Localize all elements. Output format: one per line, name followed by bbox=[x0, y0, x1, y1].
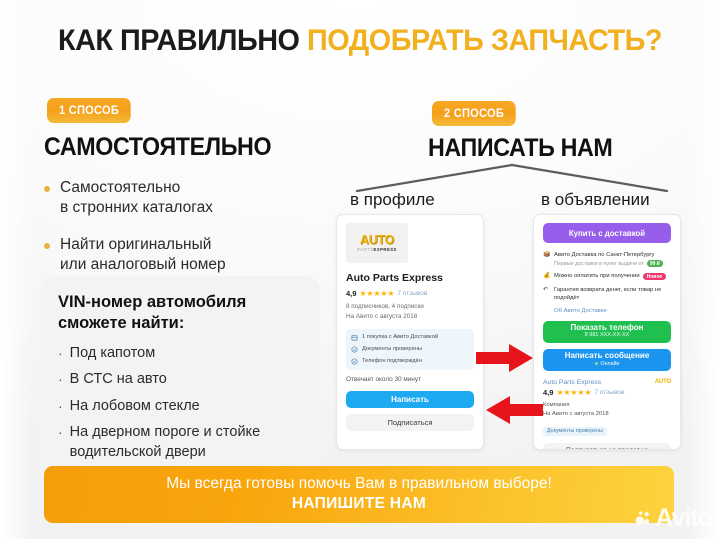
list-item: · На лобовом стекле bbox=[58, 397, 302, 416]
profile-since: На Авито с августа 2018 bbox=[346, 312, 474, 322]
seller-type: Компания bbox=[543, 401, 671, 410]
list-item: · Под капотом bbox=[58, 344, 302, 363]
trust-badge-text: Телефон подтверждён bbox=[362, 358, 422, 364]
reviews-link[interactable]: 7 отзывов bbox=[397, 290, 427, 297]
method-2-heading: НАПИСАТЬ НАМ bbox=[428, 134, 612, 163]
trust-badge-text: Документы проверены bbox=[362, 346, 422, 352]
list-item: Самостоятельно в стронних каталогах bbox=[44, 178, 296, 219]
profile-followers: 8 подписчиков, 4 подписки bbox=[346, 302, 474, 312]
stars-icon: ★★★★★ bbox=[556, 388, 591, 397]
return-icon: ↶ bbox=[543, 286, 550, 294]
page-title-black: КАК ПРАВИЛЬНО bbox=[58, 24, 299, 57]
bullet-line-1: Найти оригинальный bbox=[60, 235, 226, 255]
method-2-badge: 2 СПОСОБ bbox=[432, 101, 516, 126]
list-item: 💰 Можно оплатить при получении Новое bbox=[543, 272, 671, 280]
delivery-item-text: Можно оплатить при получении bbox=[554, 272, 640, 280]
vin-title-line-1: VIN-номер автомобиля bbox=[58, 292, 302, 313]
subscribe-seller-button[interactable]: Подписаться на продавца bbox=[543, 443, 671, 450]
rating-value: 4,9 bbox=[346, 289, 356, 298]
bullet-dash-icon: · bbox=[58, 397, 63, 416]
bullet-line-2: или аналоговый номер bbox=[60, 255, 226, 275]
avito-watermark: Avito bbox=[635, 506, 712, 531]
seller-rating-row: 4,9 ★★★★★ 7 отзывов bbox=[543, 388, 624, 397]
online-dot-icon bbox=[595, 362, 598, 365]
cta-line-2: НАПИШИТЕ НАМ bbox=[292, 494, 426, 515]
delivery-item-sub: Первые доставки в пункт выдачи от 99 ₽ bbox=[554, 260, 663, 267]
bullet-text: Найти оригинальный или аналоговый номер bbox=[60, 235, 226, 276]
online-status-text: Онлайн bbox=[601, 361, 620, 368]
bullet-dot-icon bbox=[44, 243, 50, 249]
bullet-dash-icon: · bbox=[58, 423, 63, 442]
bullet-line-2: в стронних каталогах bbox=[60, 198, 213, 218]
advert-screenshot-card: Купить с доставкой 📦 Авито Доставка по С… bbox=[533, 214, 681, 450]
vin-item-text: На лобовом стекле bbox=[70, 397, 200, 416]
list-item: · На дверном пороге и стойке водительско… bbox=[58, 423, 302, 462]
logo-sub-dark: EXPRESS bbox=[374, 247, 397, 252]
seller-since: На Авито с августа 2018 bbox=[543, 410, 671, 419]
list-item: ↶ Гарантия возврата денег, если товар не… bbox=[543, 286, 671, 303]
phone-number-masked: 8 981 XXX-XX-XX bbox=[585, 332, 630, 339]
profile-trust-badges: 1 покупка с Авито Доставкой Документы пр… bbox=[346, 329, 474, 370]
seller-logo: AUTO bbox=[655, 379, 671, 385]
avito-dots-icon bbox=[635, 510, 652, 527]
vin-item-line-1: На дверном пороге и стойке bbox=[70, 424, 260, 440]
online-status: Онлайн bbox=[595, 361, 620, 368]
stars-icon: ★★★★★ bbox=[359, 289, 394, 298]
page-title: КАК ПРАВИЛЬНО ПОДОБРАТЬ ЗАПЧАСТЬ? bbox=[14, 24, 705, 58]
bullet-dash-icon: · bbox=[58, 370, 63, 389]
delivery-item-text: Авито Доставка по Санкт-Петербургу bbox=[554, 251, 663, 259]
delivery-box-icon bbox=[351, 334, 358, 341]
sub-label-advert: в объявлении bbox=[541, 190, 650, 210]
seller-verified-badge: Документы проверены bbox=[543, 427, 607, 436]
list-item: · В СТС на авто bbox=[58, 370, 302, 389]
shop-name: Auto Parts Express bbox=[346, 272, 474, 284]
check-circle-icon bbox=[351, 346, 358, 353]
avito-wordmark: Avito bbox=[655, 506, 712, 531]
list-item: Документы проверены bbox=[351, 346, 469, 353]
poster-canvas: КАК ПРАВИЛЬНО ПОДОБРАТЬ ЗАПЧАСТЬ? 1 СПОС… bbox=[0, 0, 720, 539]
show-phone-button[interactable]: Показать телефон 8 981 XXX-XX-XX bbox=[543, 321, 671, 343]
logo-main-text: AUTO bbox=[360, 234, 394, 247]
method-1-heading: САМОСТОЯТЕЛЬНО bbox=[44, 133, 271, 162]
vin-item-text: На дверном пороге и стойке водительской … bbox=[70, 423, 260, 462]
payment-row: Можно оплатить при получении Новое bbox=[554, 272, 666, 280]
check-circle-icon bbox=[351, 358, 358, 365]
vin-title-line-2: сможете найти: bbox=[58, 313, 302, 334]
rating-row: 4,9 ★★★★★ 7 отзывов bbox=[346, 289, 474, 298]
trust-badge-text: 1 покупка с Авито Доставкой bbox=[362, 334, 438, 340]
follow-button[interactable]: Подписаться bbox=[346, 414, 474, 431]
bottom-cta-banner: Мы всегда готовы помочь Вам в правильном… bbox=[44, 466, 674, 523]
bullet-text: Самостоятельно в стронних каталогах bbox=[60, 178, 213, 219]
bullet-dot-icon bbox=[44, 186, 50, 192]
write-button[interactable]: Написать bbox=[346, 391, 474, 408]
new-badge: Новое bbox=[643, 273, 667, 280]
vin-info-card: VIN-номер автомобиля сможете найти: · По… bbox=[40, 276, 320, 487]
arrow-left-icon bbox=[485, 395, 543, 425]
seller-rating-value: 4,9 bbox=[543, 388, 553, 397]
sub-label-profile: в профиле bbox=[350, 190, 435, 210]
profile-screenshot-card: AUTO PARTSEXPRESS Auto Parts Express 4,9… bbox=[336, 214, 484, 450]
logo-sub-text: PARTSEXPRESS bbox=[357, 248, 397, 252]
logo-sub-gray: PARTS bbox=[357, 247, 373, 252]
seller-block: Auto Parts Express 4,9 ★★★★★ 7 отзывов A… bbox=[543, 379, 671, 401]
price-pill: 99 ₽ bbox=[647, 260, 663, 267]
shop-logo: AUTO PARTSEXPRESS bbox=[346, 223, 408, 263]
delivery-sub-text: Первые доставки в пункт выдачи от bbox=[554, 261, 644, 267]
delivery-item-text: Гарантия возврата денег, если товар не п… bbox=[554, 286, 671, 303]
page-title-yellow: ПОДОБРАТЬ ЗАПЧАСТЬ? bbox=[307, 24, 662, 57]
about-delivery-link[interactable]: Об Авито Доставке bbox=[554, 308, 671, 314]
seller-name-link[interactable]: Auto Parts Express bbox=[543, 379, 624, 386]
truck-icon: 📦 bbox=[543, 251, 550, 259]
list-item: 1 покупка с Авито Доставкой bbox=[351, 334, 469, 341]
bullet-line-1: Самостоятельно bbox=[60, 178, 213, 198]
cta-line-1: Мы всегда готовы помочь Вам в правильном… bbox=[166, 474, 552, 493]
arrow-right-icon bbox=[476, 343, 534, 373]
vin-item-text: Под капотом bbox=[70, 344, 156, 363]
method-1-bullet-list: Самостоятельно в стронних каталогах Найт… bbox=[44, 178, 296, 292]
vin-item-line-2: водительской двери bbox=[70, 444, 206, 460]
method-1-badge: 1 СПОСОБ bbox=[47, 98, 131, 123]
write-message-label: Написать сообщение bbox=[565, 352, 650, 361]
list-item: Телефон подтверждён bbox=[351, 358, 469, 365]
bullet-dash-icon: · bbox=[58, 344, 63, 363]
show-phone-label: Показать телефон bbox=[571, 324, 644, 333]
wallet-icon: 💰 bbox=[543, 272, 550, 280]
buy-with-delivery-button[interactable]: Купить с доставкой bbox=[543, 223, 671, 243]
answer-time: Отвечает около 30 минут bbox=[346, 376, 474, 383]
list-item: Найти оригинальный или аналоговый номер bbox=[44, 235, 296, 276]
seller-reviews-link[interactable]: 7 отзывов bbox=[594, 389, 624, 396]
vin-item-text: В СТС на авто bbox=[70, 370, 167, 389]
write-message-button[interactable]: Написать сообщение Онлайн bbox=[543, 349, 671, 371]
list-item: 📦 Авито Доставка по Санкт-Петербургу Пер… bbox=[543, 251, 671, 267]
vin-card-title: VIN-номер автомобиля сможете найти: bbox=[58, 292, 302, 335]
